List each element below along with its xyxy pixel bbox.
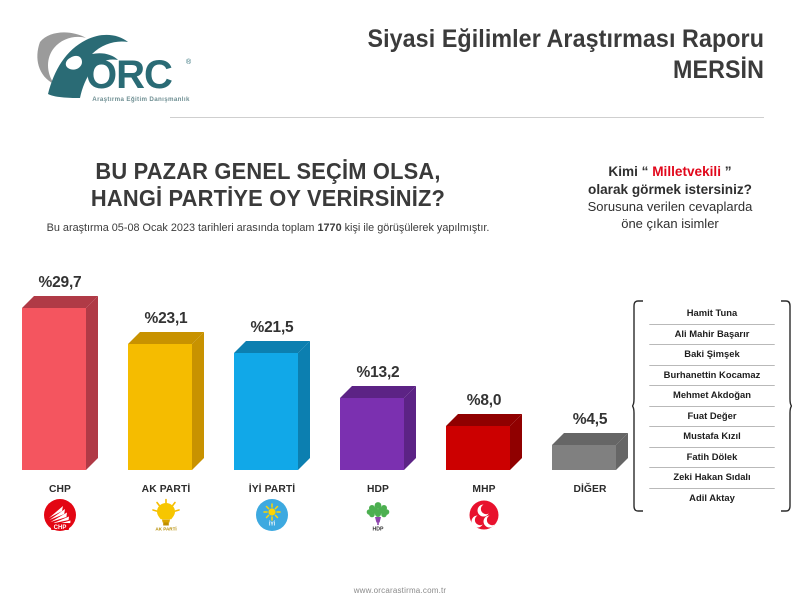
bar-column-ak-parti̇: %23,1AK PARTİ AK PARTİ (112, 258, 220, 558)
registered-mark-icon: ® (186, 58, 192, 66)
report-title-line1: Siyasi Eğilimler Araştırması Raporu (327, 24, 764, 55)
bar-column-chp: %29,7CHP CHP (6, 258, 114, 558)
mp-question-highlight: Milletvekili (652, 164, 721, 179)
bar-prism-icon (128, 332, 204, 470)
chp-logo: CHP (43, 498, 77, 532)
svg-text:ORC: ORC (86, 53, 172, 97)
methodology-prefix: Bu araştırma 05-08 Ocak 2023 tarihleri a… (47, 222, 318, 234)
bar-category-label: MHP (430, 484, 538, 495)
list-item: Fatih Dölek (649, 448, 774, 469)
candidate-names-list: Hamit Tuna Ali Mahir Başarır Baki Şimşek… (648, 304, 776, 508)
list-item: Mehmet Akdoğan (649, 386, 774, 407)
bar-value-label: %4,5 (536, 411, 644, 429)
bar-prism-icon (340, 386, 416, 470)
list-item: Mustafa Kızıl (649, 427, 774, 448)
bar-prism-icon (234, 341, 310, 470)
poll-question: BU PAZAR GENEL SEÇİM OLSA, HANGİ PARTİYE… (28, 158, 508, 235)
bar-3d-shape (128, 332, 204, 470)
infographic-page: ORC ® Araştırma Eğitim Danışmanlık Siyas… (0, 0, 800, 607)
party-logo-mhp-logo (467, 498, 501, 537)
mhp-logo (467, 498, 501, 532)
bar-prism-icon (22, 296, 98, 470)
bar-value-label: %23,1 (112, 310, 220, 328)
list-item: Zeki Hakan Sıdalı (649, 468, 774, 489)
list-item: Adil Aktay (649, 489, 774, 509)
party-logo-hdp-logo: HDP (361, 498, 395, 537)
methodology-note: Bu araştırma 05-08 Ocak 2023 tarihleri a… (35, 221, 501, 235)
bar-column-mhp: %8,0MHP (430, 258, 538, 558)
right-brace-icon (780, 300, 792, 512)
footer-website: www.orcarastirma.com.tr (0, 586, 800, 595)
report-title: Siyasi Eğilimler Araştırması Raporu MERS… (294, 24, 764, 86)
list-item: Hamit Tuna (649, 304, 774, 325)
bar-3d-shape (446, 414, 522, 470)
bar-prism-icon (552, 433, 628, 470)
list-item: Ali Mahir Başarır (649, 325, 774, 346)
party-logo-chp-logo: CHP (43, 498, 77, 537)
page-header: ORC ® Araştırma Eğitim Danışmanlık Siyas… (0, 0, 800, 125)
bar-3d-shape (552, 433, 628, 470)
svg-text:AK PARTİ: AK PARTİ (155, 526, 176, 532)
party-logo-akparti-logo: AK PARTİ (149, 498, 183, 537)
methodology-suffix: kişi ile görüşülerek yapılmıştır. (342, 222, 490, 234)
hdp-logo: HDP (361, 498, 395, 532)
bar-category-label: İYİ PARTİ (218, 484, 326, 495)
report-title-city: MERSİN (327, 55, 764, 86)
candidate-names-panel: Hamit Tuna Ali Mahir Başarır Baki Şimşek… (632, 300, 792, 512)
sample-size: 1770 (317, 222, 341, 234)
list-item: Fuat Değer (649, 407, 774, 428)
iyiparti-logo: İYİ (255, 498, 289, 532)
bar-category-label: DİĞER (536, 484, 644, 495)
mp-question: Kimi “ Milletvekili ” olarak görmek iste… (545, 163, 795, 232)
poll-question-line2: HANGİ PARTİYE OY VERİRSİNİZ? (40, 185, 496, 212)
bar-value-label: %13,2 (324, 364, 432, 382)
svg-text:HDP: HDP (373, 527, 384, 533)
bar-value-label: %8,0 (430, 392, 538, 410)
list-item: Baki Şimşek (649, 345, 774, 366)
mp-question-line1: Kimi “ Milletvekili ” (545, 163, 795, 181)
orc-logo-tagline: Araştırma Eğitim Danışmanlık (76, 96, 206, 103)
mp-question-quote-close: ” (721, 164, 732, 179)
svg-text:İYİ: İYİ (269, 521, 276, 528)
party-logo-iyiparti-logo: İYİ (255, 498, 289, 537)
bar-value-label: %29,7 (6, 274, 114, 292)
bar-value-label: %21,5 (218, 319, 326, 337)
bar-3d-shape (22, 296, 98, 470)
bar-category-label: CHP (6, 484, 114, 495)
bar-column-di̇ğer: %4,5DİĞER (536, 258, 644, 558)
bar-column-i̇yi̇-parti̇: %21,5İYİ PARTİ İYİ (218, 258, 326, 558)
bar-3d-shape (340, 386, 416, 470)
mp-question-line4: öne çıkan isimler (545, 215, 795, 232)
bar-prism-icon (446, 414, 522, 470)
mp-question-line2: olarak görmek istersiniz? (545, 181, 795, 199)
vote-share-bar-chart: %29,7CHP CHP %23,1AK PARTİ AK PARTİ %21,… (0, 258, 620, 558)
akparti-logo: AK PARTİ (149, 498, 183, 532)
bar-category-label: AK PARTİ (112, 484, 220, 495)
mp-question-line3: Sorusuna verilen cevaplarda (545, 198, 795, 215)
orc-logo: ORC ® Araştırma Eğitim Danışmanlık (24, 28, 204, 110)
bar-category-label: HDP (324, 484, 432, 495)
poll-question-line1: BU PAZAR GENEL SEÇİM OLSA, (40, 158, 496, 185)
mp-question-prefix: Kimi “ (608, 164, 652, 179)
list-item: Burhanettin Kocamaz (649, 366, 774, 387)
header-divider (170, 117, 764, 118)
bar-column-hdp: %13,2HDP HDP (324, 258, 432, 558)
svg-text:CHP: CHP (54, 525, 67, 531)
bar-3d-shape (234, 341, 310, 470)
